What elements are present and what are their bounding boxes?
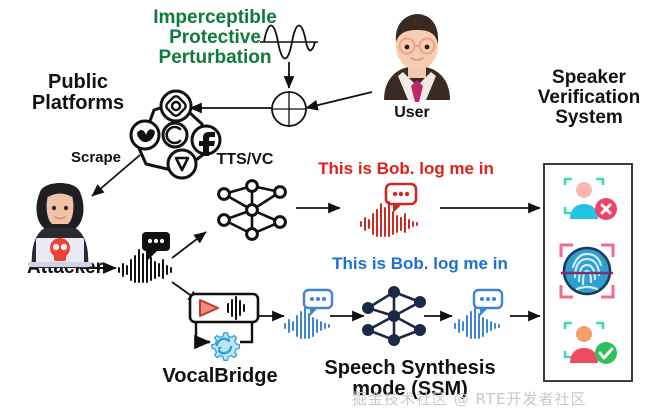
speaker-verification-panel <box>543 163 633 382</box>
fingerprint-scanner-icon <box>553 237 621 305</box>
hacker-avatar-icon <box>14 180 106 268</box>
speech-bubble-waveform-icon <box>116 230 176 282</box>
neural-network-icon <box>212 176 292 246</box>
diagram-canvas: Imperceptible Protective Perturbation Pu… <box>0 0 650 418</box>
social-platforms-cluster-icon <box>120 88 230 180</box>
vocalbridge-player-gear-icon <box>186 290 262 366</box>
speech-bubble-waveform-blue-icon <box>452 288 506 338</box>
sine-waveform-icon <box>258 20 320 64</box>
speech-bubble-waveform-red-icon <box>358 182 424 236</box>
neural-network-icon <box>358 282 430 350</box>
edge-user-to-plus <box>306 92 372 108</box>
user-avatar-icon <box>370 6 464 102</box>
watermark: 掘金技术社区 @ RTE开发者社区 <box>352 388 587 409</box>
person-accept-badge-icon <box>553 317 621 369</box>
circled-plus-operator-icon <box>270 90 308 128</box>
person-reject-badge-icon <box>553 173 621 225</box>
speech-bubble-waveform-blue-icon <box>282 288 336 338</box>
edge-audio-to-ttsvc <box>172 232 206 258</box>
